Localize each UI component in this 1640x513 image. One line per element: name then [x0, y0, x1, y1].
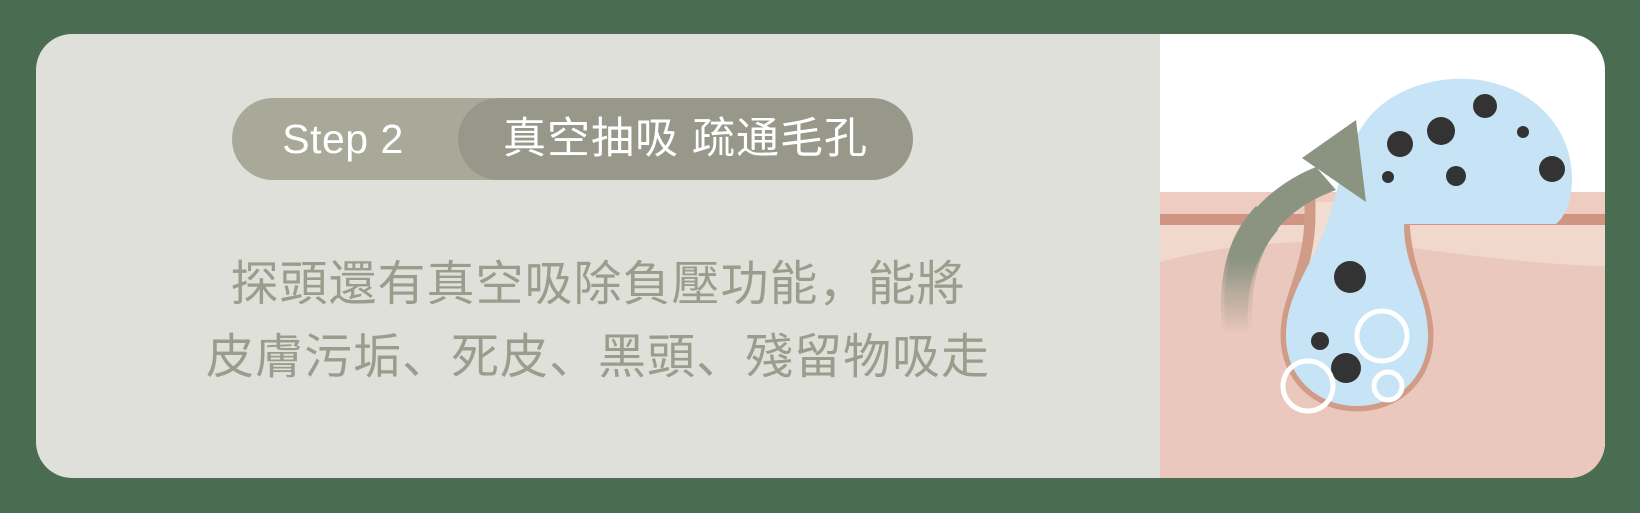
debris-dot-icon — [1311, 332, 1329, 350]
debris-dot-icon — [1446, 166, 1466, 186]
skin-pore-suction-illustration — [1160, 34, 1605, 478]
debris-dot-icon — [1473, 94, 1497, 118]
debris-dot-icon — [1387, 131, 1413, 157]
illustration-panel — [1160, 34, 1605, 478]
debris-dot-icon — [1427, 117, 1455, 145]
description-line-1: 探頭還有真空吸除負壓功能，能將 — [36, 249, 1160, 322]
step-description: 探頭還有真空吸除負壓功能，能將 皮膚污垢、死皮、黑頭、殘留物吸走 — [36, 249, 1160, 395]
step-card: Step 2 真空抽吸 疏通毛孔 探頭還有真空吸除負壓功能，能將 皮膚污垢、死皮… — [36, 34, 1605, 478]
step-title-pill: 真空抽吸 疏通毛孔 — [458, 98, 913, 180]
debris-dot-icon — [1539, 156, 1565, 182]
screenshot-stage: Step 2 真空抽吸 疏通毛孔 探頭還有真空吸除負壓功能，能將 皮膚污垢、死皮… — [0, 0, 1640, 513]
description-line-2: 皮膚污垢、死皮、黑頭、殘留物吸走 — [36, 322, 1160, 395]
debris-dot-icon — [1331, 353, 1361, 383]
text-column: Step 2 真空抽吸 疏通毛孔 探頭還有真空吸除負壓功能，能將 皮膚污垢、死皮… — [36, 34, 1160, 478]
debris-dot-icon — [1382, 171, 1394, 183]
debris-dot-icon — [1334, 261, 1366, 293]
debris-dot-icon — [1517, 126, 1529, 138]
